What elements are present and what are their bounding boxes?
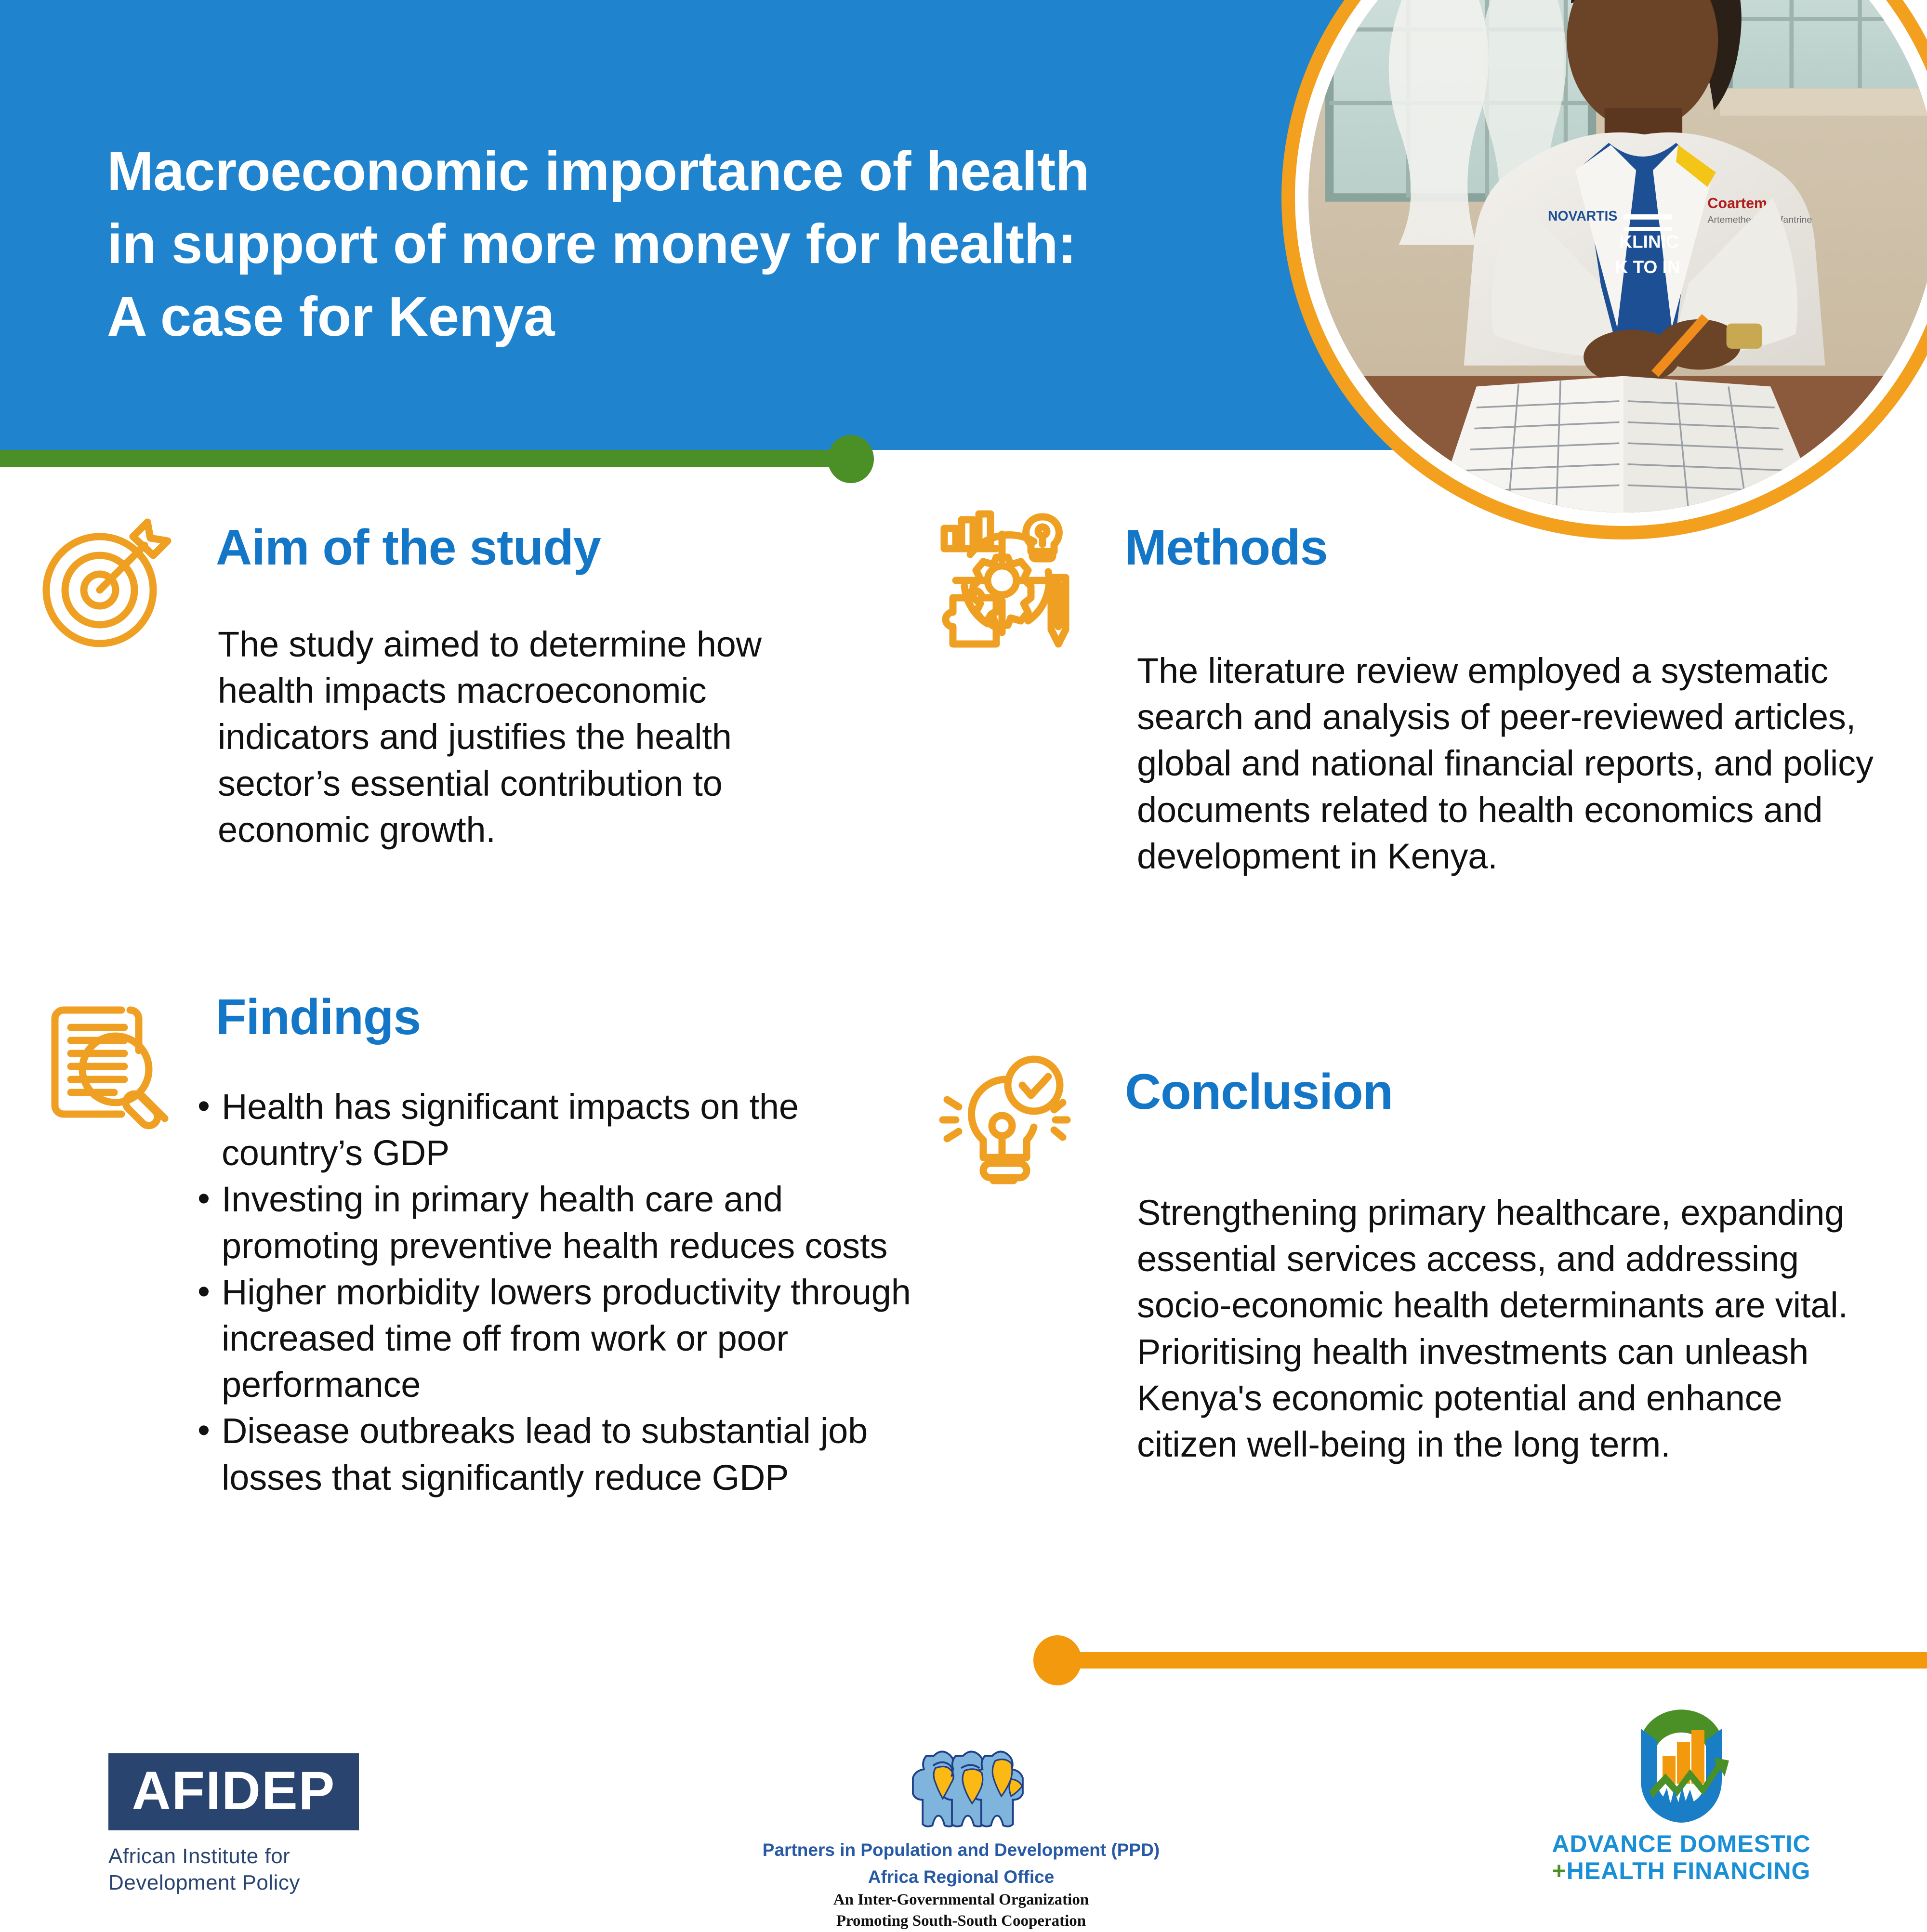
header-banner: Macroeconomic importance of health in su… bbox=[0, 0, 1426, 450]
methods-heading: Methods bbox=[1125, 523, 1751, 573]
page-title-line-1: Macroeconomic importance of health bbox=[107, 135, 1287, 208]
page-title-line-3: A case for Kenya bbox=[107, 280, 1287, 353]
ppd-name-line-2: Africa Regional Office bbox=[761, 1865, 1161, 1889]
adhf-logo: ADVANCE DOMESTIC +HEALTH FINANCING bbox=[1513, 1681, 1850, 1884]
afidep-logo: AFIDEP African Institute for Development… bbox=[108, 1753, 359, 1896]
ppd-name-line-1: Partners in Population and Development (… bbox=[761, 1838, 1161, 1862]
green-accent-bar bbox=[0, 450, 867, 467]
aim-heading: Aim of the study bbox=[216, 523, 842, 573]
list-item: Higher morbidity lowers productivity thr… bbox=[193, 1269, 915, 1408]
adhf-shield-chart-icon bbox=[1513, 1681, 1850, 1826]
findings-body: Health has significant impacts on the co… bbox=[193, 1084, 915, 1501]
conclusion-body-text: Strengthening primary healthcare, expand… bbox=[1137, 1190, 1888, 1468]
page-title-line-2: in support of more money for health: bbox=[107, 208, 1287, 280]
afidep-tagline: African Institute for Development Policy bbox=[108, 1843, 359, 1896]
document-magnifier-icon bbox=[35, 990, 179, 1139]
svg-text:Coartem: Coartem bbox=[1707, 195, 1767, 211]
orange-accent-dot bbox=[1033, 1635, 1082, 1685]
photo-ring: KLINICK TO IN NOVARTIS Coartem Artemethe… bbox=[1281, 0, 1927, 539]
findings-heading: Findings bbox=[216, 992, 842, 1042]
list-item: Investing in primary health care and pro… bbox=[193, 1176, 915, 1269]
lightbulb-check-icon bbox=[930, 1048, 1074, 1202]
adhf-wordmark: ADVANCE DOMESTIC +HEALTH FINANCING bbox=[1513, 1830, 1850, 1884]
green-accent-dot bbox=[828, 435, 874, 483]
ppd-logo: Partners in Population and Development (… bbox=[761, 1744, 1161, 1932]
ppd-people-globe-icon bbox=[761, 1744, 1161, 1835]
adhf-wordmark-line-2-text: HEALTH FINANCING bbox=[1567, 1857, 1811, 1884]
ppd-name-line-4: Promoting South-South Cooperation bbox=[761, 1910, 1161, 1932]
research-gear-icon bbox=[930, 508, 1074, 653]
page-title: Macroeconomic importance of health in su… bbox=[107, 135, 1287, 353]
afidep-tagline-line-2: Development Policy bbox=[108, 1869, 359, 1896]
footer-logos: AFIDEP African Institute for Development… bbox=[0, 1734, 1927, 1927]
orange-accent-bar bbox=[1065, 1652, 1927, 1669]
svg-text:NOVARTIS: NOVARTIS bbox=[1548, 209, 1617, 224]
svg-text:K TO IN: K TO IN bbox=[1615, 257, 1680, 277]
findings-bullet-list: Health has significant impacts on the co… bbox=[193, 1084, 915, 1501]
conclusion-heading: Conclusion bbox=[1125, 1067, 1751, 1117]
target-arrow-icon bbox=[35, 511, 179, 660]
adhf-plus-glyph: + bbox=[1552, 1857, 1567, 1884]
svg-text:KLINIC: KLINIC bbox=[1619, 232, 1678, 252]
list-item: Health has significant impacts on the co… bbox=[193, 1084, 915, 1176]
afidep-tagline-line-1: African Institute for bbox=[108, 1843, 359, 1869]
ppd-name-line-3: An Inter-Governmental Organization bbox=[761, 1889, 1161, 1911]
aim-body-text: The study aimed to determine how health … bbox=[218, 621, 849, 853]
list-item: Disease outbreaks lead to substantial jo… bbox=[193, 1408, 915, 1500]
afidep-wordmark: AFIDEP bbox=[108, 1753, 359, 1830]
adhf-wordmark-line-2: +HEALTH FINANCING bbox=[1513, 1857, 1850, 1884]
methods-body-text: The literature review employed a systema… bbox=[1137, 648, 1884, 880]
adhf-wordmark-line-1: ADVANCE DOMESTIC bbox=[1513, 1830, 1850, 1857]
